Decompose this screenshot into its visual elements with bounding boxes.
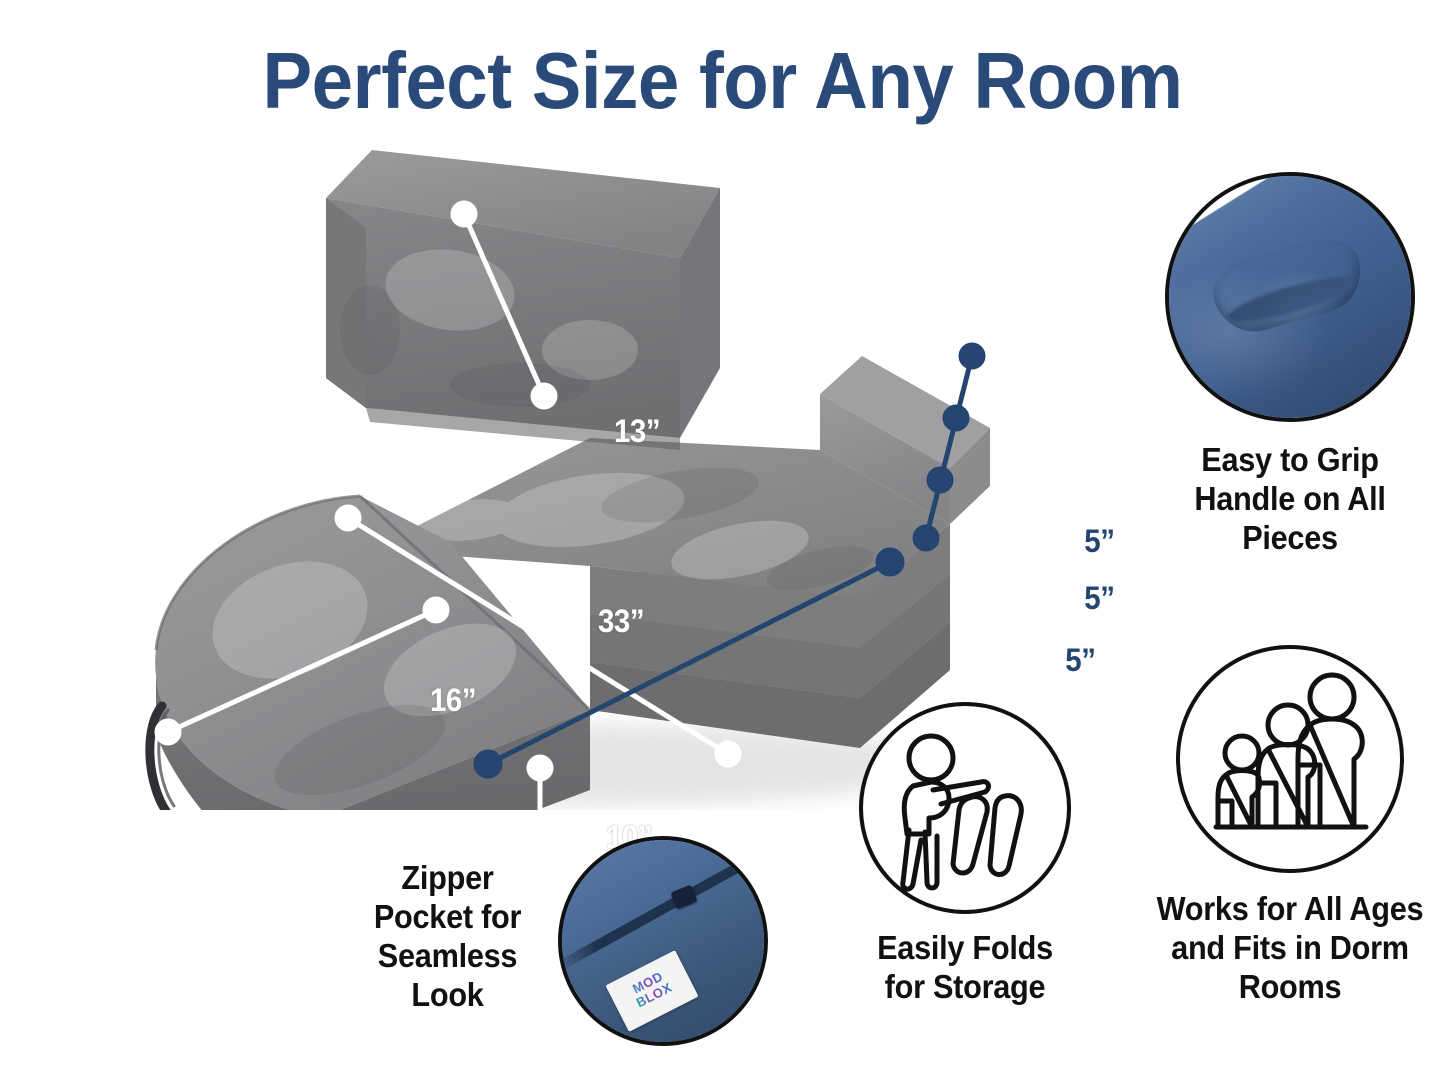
page-title: Perfect Size for Any Room	[51, 38, 1395, 124]
infographic-page: Perfect Size for Any Room	[0, 0, 1445, 1088]
feature-handle: Easy to Grip Handle on All Pieces	[1145, 172, 1435, 557]
three-people-sizes-icon	[1176, 645, 1404, 873]
person-folding-cushions-icon	[859, 702, 1071, 914]
dimension-label-layer-3: 5”	[1065, 644, 1095, 676]
dimension-label-bolster-depth: 16”	[430, 684, 476, 716]
feature-ages-caption: Works for All Ages and Fits in Dorm Room…	[1151, 889, 1430, 1006]
dimension-label-layer-1: 5”	[1084, 525, 1114, 557]
feature-zipper: Zipper Pocket for Seamless Look MOD BLOX	[350, 848, 770, 1048]
feature-handle-caption: Easy to Grip Handle on All Pieces	[1155, 440, 1425, 557]
feature-ages: Works for All Ages and Fits in Dorm Room…	[1140, 645, 1440, 1006]
dimension-label-layer-2: 5”	[1084, 582, 1114, 614]
feature-zipper-caption: Zipper Pocket for Seamless Look	[357, 858, 538, 1014]
feature-folds-caption: Easily Folds for Storage	[853, 928, 1076, 1006]
blue-fabric-handle-photo	[1165, 172, 1415, 422]
dimension-label-seat-width: 33”	[598, 605, 644, 637]
blue-fabric-zipper-photo: MOD BLOX	[558, 836, 768, 1046]
feature-folds: Easily Folds for Storage	[845, 702, 1085, 1006]
dimension-label-backrest-height: 13”	[614, 415, 660, 447]
